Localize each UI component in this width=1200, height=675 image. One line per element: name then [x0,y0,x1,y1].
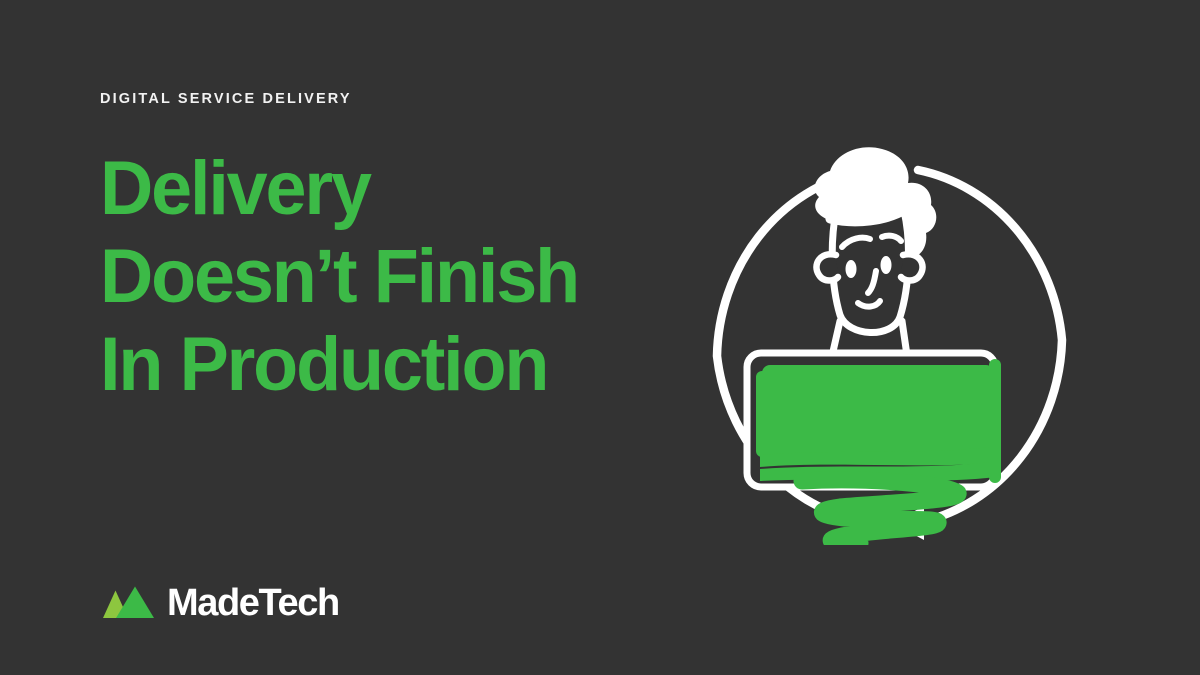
headline-line-1: Delivery [100,145,643,233]
green-scribble-fill [756,365,996,544]
headline-line-3: In Production [100,321,643,409]
made-tech-mountains-icon [102,586,156,620]
text-column: DIGITAL SERVICE DELIVERY Delivery Doesn’… [100,92,660,409]
page-title: Delivery Doesn’t Finish In Production [100,145,660,409]
ear-left [816,254,838,280]
eye-left [846,260,857,278]
continuous-delivery-loop-illustration [690,125,1090,545]
title-card: DIGITAL SERVICE DELIVERY Delivery Doesn’… [0,0,1200,675]
headline-line-2: Doesn’t Finish [100,233,643,321]
ear-right [901,254,923,280]
head-outline [832,211,908,333]
laptop [747,353,996,544]
made-tech-wordmark: MadeTech [167,584,339,622]
eyebrow-label: DIGITAL SERVICE DELIVERY [100,92,660,107]
person-figure [815,147,937,369]
eye-right [881,256,892,274]
made-tech-logo[interactable]: MadeTech [102,581,339,625]
